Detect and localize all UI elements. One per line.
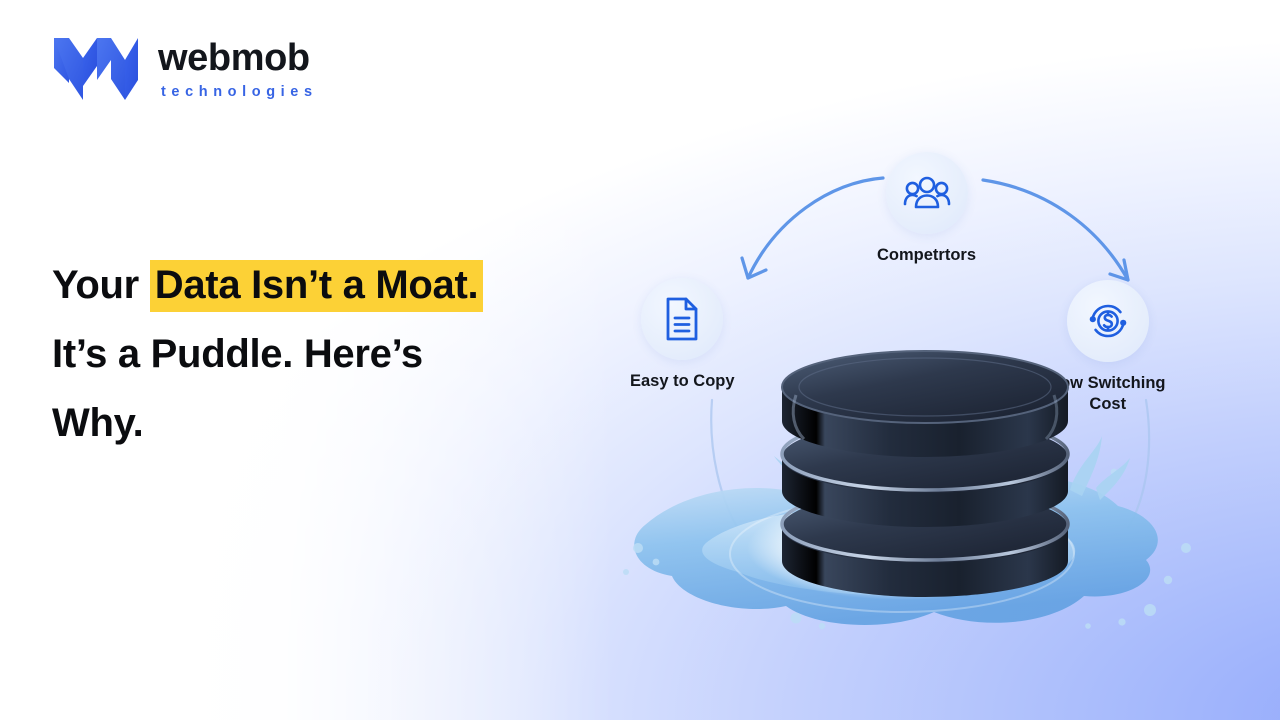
- database-stack-icon: [760, 355, 1090, 615]
- headline-highlight: Data Isn’t a Moat.: [150, 260, 484, 312]
- page-headline: Your Data Isn’t a Moat. It’s a Puddle. H…: [52, 251, 612, 457]
- moat-diagram-illustration: Competrtors Easy to Copy: [580, 100, 1280, 720]
- node-easy-to-copy[interactable]: Easy to Copy: [630, 278, 735, 392]
- node-competitors-label: Competrtors: [877, 245, 976, 266]
- people-group-icon: [903, 173, 951, 213]
- arrow-competitors-to-cost: [983, 180, 1128, 280]
- brand-name: webmob: [158, 39, 318, 77]
- headline-line-1: Your Data Isn’t a Moat.: [52, 251, 612, 320]
- wm-monogram-icon: [52, 36, 140, 102]
- node-competitors-circle: [886, 152, 968, 234]
- node-low-switching-cost-circle: [1067, 280, 1149, 362]
- brand-logo[interactable]: webmob technologies: [52, 36, 318, 102]
- db-disc-top: [782, 351, 1068, 457]
- node-easy-to-copy-label: Easy to Copy: [630, 371, 735, 392]
- brand-tagline: technologies: [161, 85, 318, 100]
- headline-line-3: Why.: [52, 389, 612, 458]
- node-competitors[interactable]: Competrtors: [877, 152, 976, 266]
- node-easy-to-copy-circle: [641, 278, 723, 360]
- dollar-refresh-icon: [1085, 298, 1131, 344]
- headline-line-2: It’s a Puddle. Here’s: [52, 320, 612, 389]
- document-page-icon: [662, 296, 702, 342]
- headline-prefix: Your: [52, 263, 150, 307]
- arrow-competitors-to-copy: [748, 178, 883, 278]
